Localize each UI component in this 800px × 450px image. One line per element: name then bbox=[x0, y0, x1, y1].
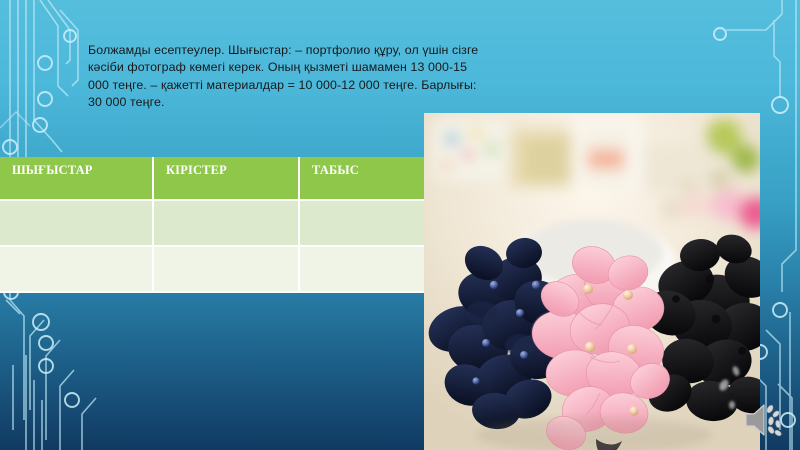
presentation-slide: Болжамды есептеулер. Шығыстар: – портфол… bbox=[0, 0, 800, 450]
table-row bbox=[0, 247, 456, 293]
table-row bbox=[0, 201, 456, 247]
flower-photograph bbox=[424, 113, 760, 450]
table-cell[interactable] bbox=[0, 247, 154, 293]
expenses-income-profit-table: ШЫҒЫСТАР КІРІСТЕР ТАБЫС bbox=[0, 157, 456, 293]
table-cell[interactable] bbox=[154, 201, 300, 247]
table-cell[interactable] bbox=[0, 201, 154, 247]
table-header-cell-1: КІРІСТЕР bbox=[154, 157, 300, 201]
speaker-icon[interactable] bbox=[742, 400, 788, 440]
slide-body-text: Болжамды есептеулер. Шығыстар: – портфол… bbox=[88, 42, 480, 112]
table-cell[interactable] bbox=[154, 247, 300, 293]
table-header-row: ШЫҒЫСТАР КІРІСТЕР ТАБЫС bbox=[0, 157, 456, 201]
table-header-cell-0: ШЫҒЫСТАР bbox=[0, 157, 154, 201]
